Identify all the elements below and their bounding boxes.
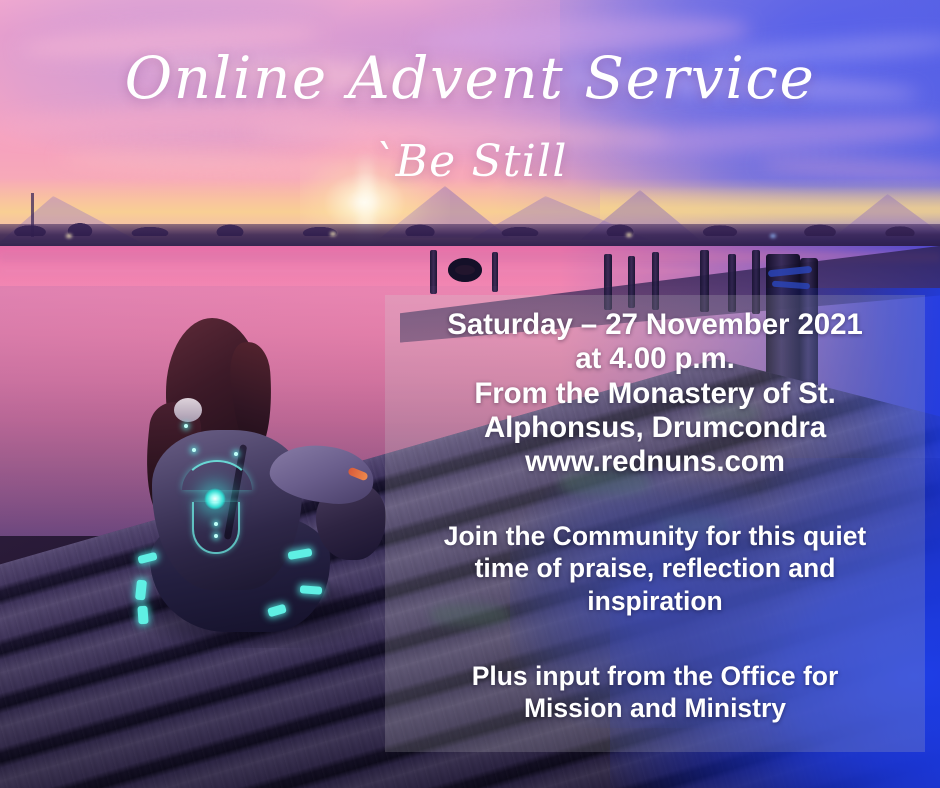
event-venue-line1: From the Monastery of St. xyxy=(393,377,917,411)
invitation-block: Join the Community for this quiet time o… xyxy=(393,520,917,618)
shore-light xyxy=(770,234,776,238)
seated-figure xyxy=(120,318,380,638)
figure-headphone xyxy=(174,398,202,422)
extra-line1: Plus input from the Office for xyxy=(393,660,917,693)
event-website[interactable]: www.rednuns.com xyxy=(393,445,917,479)
suit-glow-dot-icon xyxy=(214,522,218,526)
water-reflection-streak xyxy=(0,268,700,274)
shore-light xyxy=(66,234,72,238)
pier-tire-bumper xyxy=(448,258,482,282)
suit-glow-vee-icon xyxy=(192,502,240,554)
invitation-line3: inspiration xyxy=(393,585,917,618)
suit-glow-dot-icon xyxy=(184,424,188,428)
extra-line2: Mission and Ministry xyxy=(393,692,917,725)
extra-info-block: Plus input from the Office for Mission a… xyxy=(393,660,917,725)
event-date: Saturday – 27 November 2021 xyxy=(393,308,917,342)
shore-light xyxy=(626,233,632,237)
far-shore xyxy=(0,224,940,248)
event-time: at 4.00 p.m. xyxy=(393,342,917,376)
shore-light xyxy=(330,232,336,236)
invitation-line1: Join the Community for this quiet xyxy=(393,520,917,553)
suit-glow-dot-icon xyxy=(234,452,238,456)
info-panel: Saturday – 27 November 2021 at 4.00 p.m.… xyxy=(385,295,925,752)
suit-glow-dot-icon xyxy=(214,534,218,538)
suit-glow-strip-icon xyxy=(300,585,323,595)
suit-glow-dot-icon xyxy=(192,448,196,452)
advent-service-poster: Online Advent Service `Be Still Saturday… xyxy=(0,0,940,788)
event-venue-line2: Alphonsus, Drumcondra xyxy=(393,411,917,445)
suit-glow-strip-icon xyxy=(137,606,148,625)
pier-post xyxy=(492,252,498,292)
event-details-block: Saturday – 27 November 2021 at 4.00 p.m.… xyxy=(393,308,917,480)
suit-glow-strip-icon xyxy=(135,580,147,601)
invitation-line2: time of praise, reflection and xyxy=(393,552,917,585)
